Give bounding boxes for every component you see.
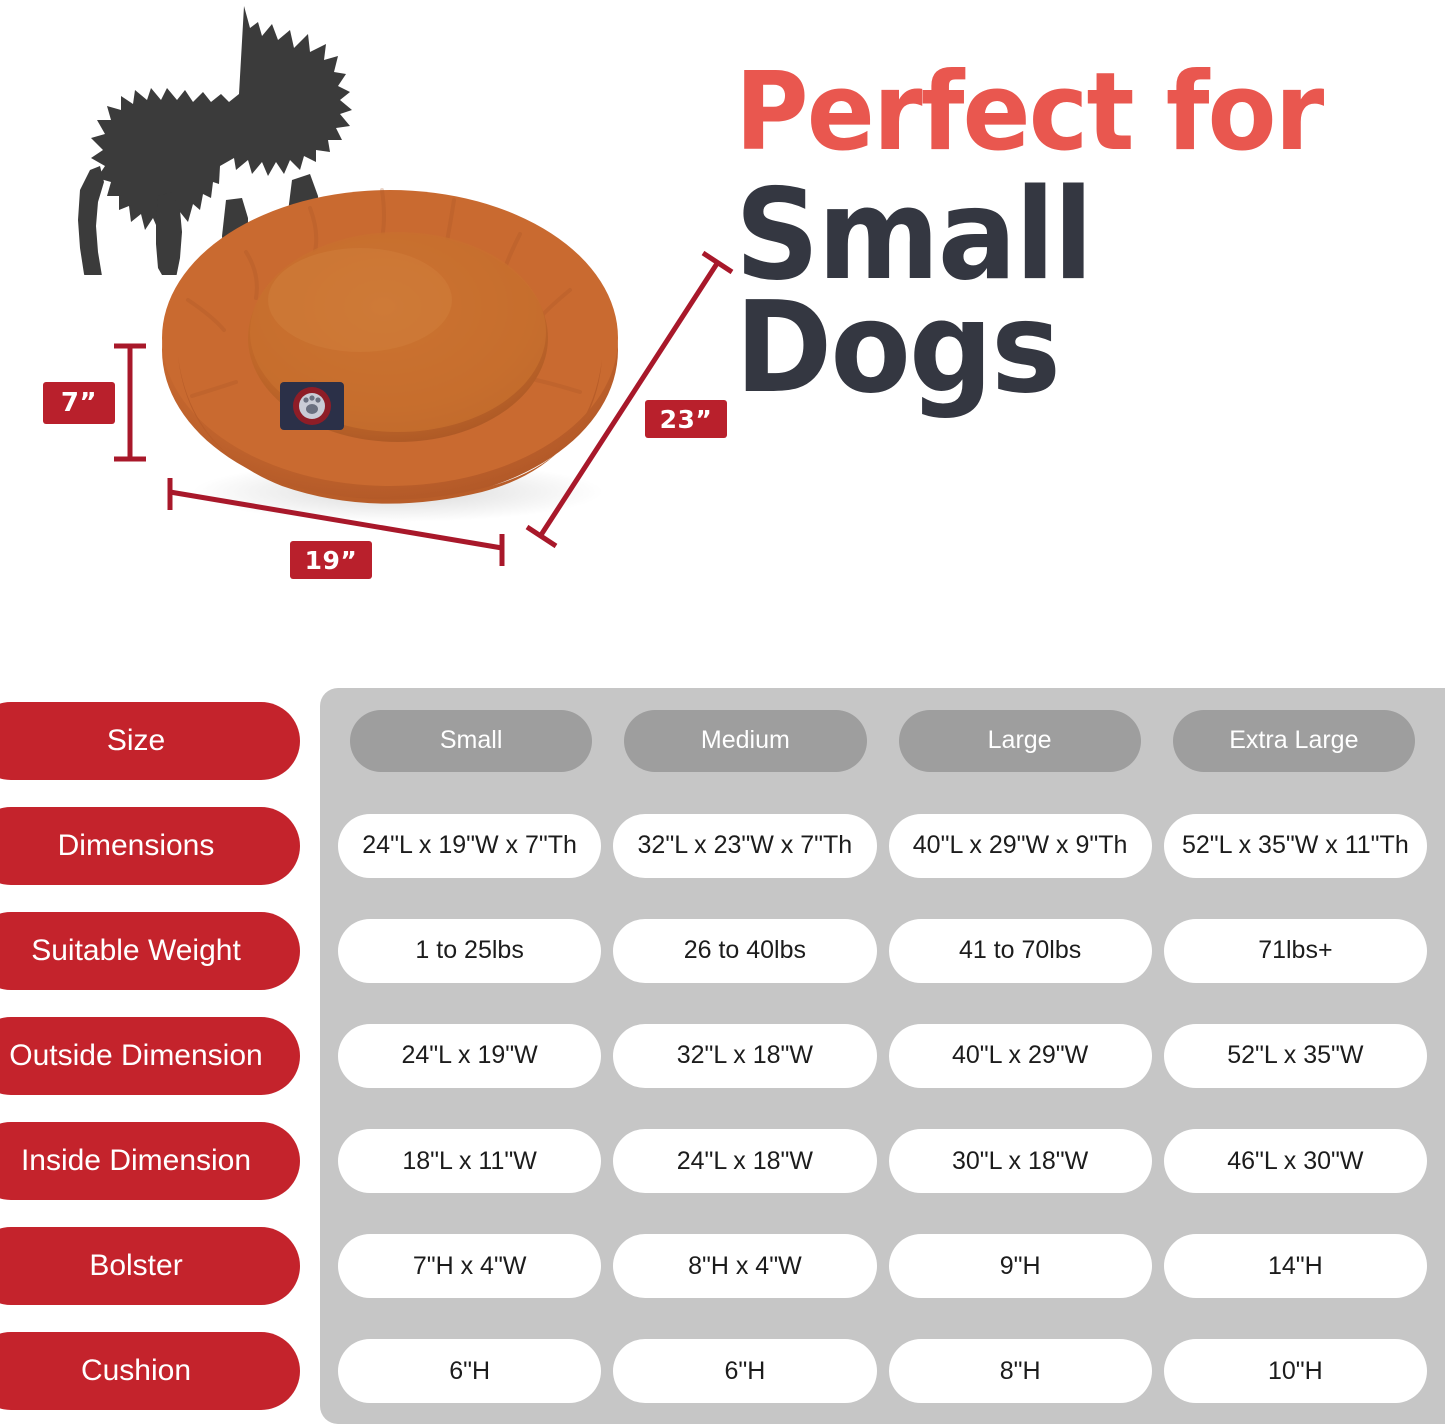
row-cells: 1 to 25lbs26 to 40lbs41 to 70lbs71lbs+ — [320, 898, 1445, 1003]
table-cell: 8"H — [889, 1339, 1152, 1403]
row-label-cell: Cushion — [0, 1319, 320, 1424]
table-cell: 26 to 40lbs — [613, 919, 876, 983]
hero-section: 7” 19” 23” Perfect for Small Dogs — [0, 0, 1445, 680]
table-cell: 8"H x 4"W — [613, 1234, 876, 1298]
row-cells: 24"L x 19"W32"L x 18"W40"L x 29"W52"L x … — [320, 1003, 1445, 1108]
column-header-cell: Medium — [624, 710, 866, 772]
row-cells: SmallMediumLargeExtra Large — [320, 688, 1445, 793]
table-cell: 40"L x 29"W x 9"Th — [889, 814, 1152, 878]
table-cell: 30"L x 18"W — [889, 1129, 1152, 1193]
table-cell: 32"L x 18"W — [613, 1024, 876, 1088]
table-row: Inside Dimension18"L x 11"W24"L x 18"W30… — [0, 1109, 1445, 1214]
table-cell: 32"L x 23"W x 7"Th — [613, 814, 876, 878]
table-cell: 6"H — [613, 1339, 876, 1403]
column-header-cell: Extra Large — [1173, 710, 1415, 772]
column-header-cell: Large — [899, 710, 1141, 772]
row-label-cell: Suitable Weight — [0, 898, 320, 1003]
row-label-cell: Outside Dimension — [0, 1003, 320, 1108]
infographic-page: 7” 19” 23” Perfect for Small Dogs SizeSm… — [0, 0, 1445, 1424]
dimension-badge-width: 19” — [290, 541, 372, 579]
table-cell: 9"H — [889, 1234, 1152, 1298]
row-label-cell: Bolster — [0, 1214, 320, 1319]
row-label-pill: Dimensions — [0, 807, 300, 885]
table-row: Dimensions24"L x 19"W x 7"Th32"L x 23"W … — [0, 793, 1445, 898]
row-label-cell: Size — [0, 688, 320, 793]
table-cell: 52"L x 35"W — [1164, 1024, 1427, 1088]
row-label-pill: Outside Dimension — [0, 1017, 300, 1095]
row-cells: 6"H6"H8"H10"H — [320, 1319, 1445, 1424]
headline: Perfect for Small Dogs — [735, 62, 1445, 408]
table-cell: 46"L x 30"W — [1164, 1129, 1427, 1193]
table-row: SizeSmallMediumLargeExtra Large — [0, 688, 1445, 793]
row-label-pill: Suitable Weight — [0, 912, 300, 990]
table-cell: 41 to 70lbs — [889, 919, 1152, 983]
headline-line-3: Dogs — [735, 288, 1395, 408]
table-row: Outside Dimension24"L x 19"W32"L x 18"W4… — [0, 1003, 1445, 1108]
headline-line-1: Perfect for — [735, 62, 1395, 165]
table-cell: 24"L x 19"W — [338, 1024, 601, 1088]
table-grid: SizeSmallMediumLargeExtra LargeDimension… — [0, 688, 1445, 1424]
table-cell: 18"L x 11"W — [338, 1129, 601, 1193]
dimension-badge-length: 23” — [645, 400, 727, 438]
table-cell: 1 to 25lbs — [338, 919, 601, 983]
table-cell: 14"H — [1164, 1234, 1427, 1298]
table-row: Cushion6"H6"H8"H10"H — [0, 1319, 1445, 1424]
table-cell: 6"H — [338, 1339, 601, 1403]
row-cells: 18"L x 11"W24"L x 18"W30"L x 18"W46"L x … — [320, 1109, 1445, 1214]
table-cell: 10"H — [1164, 1339, 1427, 1403]
table-cell: 52"L x 35"W x 11"Th — [1164, 814, 1427, 878]
table-row: Bolster7"H x 4"W8"H x 4"W9"H14"H — [0, 1214, 1445, 1319]
dog-bed-illustration — [150, 160, 630, 530]
specification-table: SizeSmallMediumLargeExtra LargeDimension… — [0, 688, 1445, 1424]
row-label-cell: Dimensions — [0, 793, 320, 898]
table-cell: 24"L x 19"W x 7"Th — [338, 814, 601, 878]
table-cell: 40"L x 29"W — [889, 1024, 1152, 1088]
row-cells: 24"L x 19"W x 7"Th32"L x 23"W x 7"Th40"L… — [320, 793, 1445, 898]
row-label-cell: Inside Dimension — [0, 1109, 320, 1214]
row-label-pill: Size — [0, 702, 300, 780]
table-cell: 7"H x 4"W — [338, 1234, 601, 1298]
table-row: Suitable Weight1 to 25lbs26 to 40lbs41 t… — [0, 898, 1445, 1003]
table-cell: 24"L x 18"W — [613, 1129, 876, 1193]
column-header-cell: Small — [350, 710, 592, 772]
row-cells: 7"H x 4"W8"H x 4"W9"H14"H — [320, 1214, 1445, 1319]
dimension-badge-height: 7” — [43, 382, 115, 424]
table-cell: 71lbs+ — [1164, 919, 1427, 983]
brand-tag — [280, 382, 344, 430]
row-label-pill: Cushion — [0, 1332, 300, 1410]
row-label-pill: Inside Dimension — [0, 1122, 300, 1200]
row-label-pill: Bolster — [0, 1227, 300, 1305]
